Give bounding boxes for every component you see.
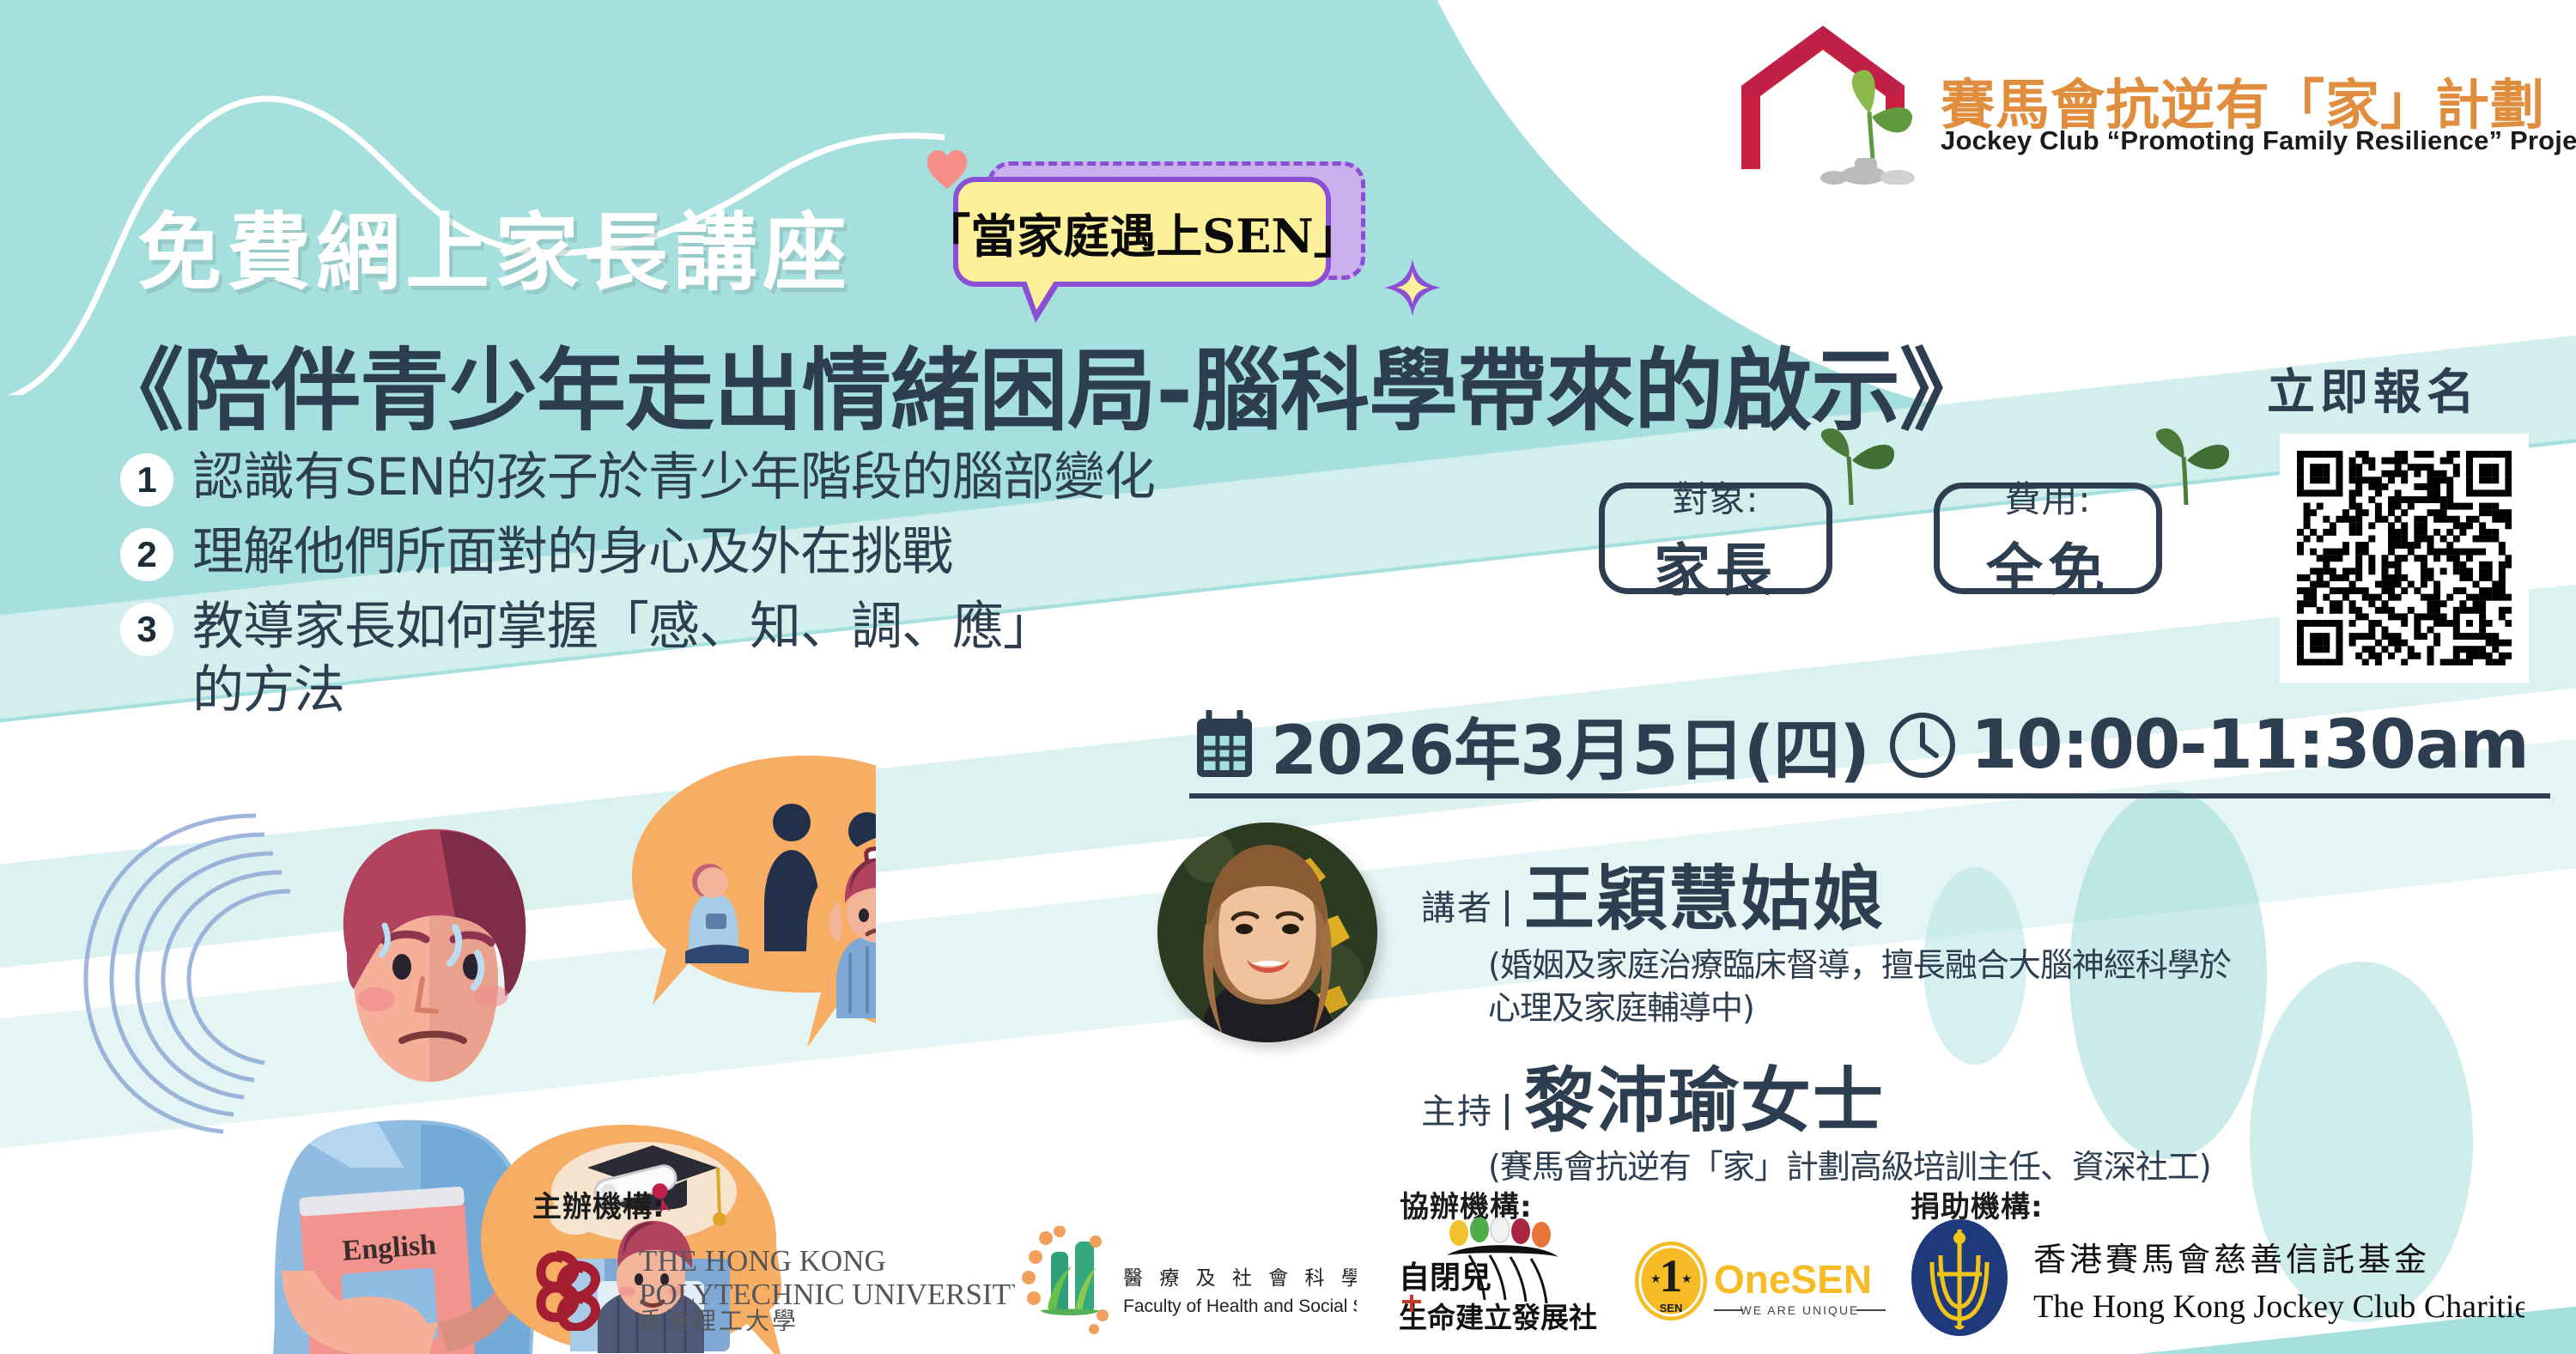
divider (1189, 793, 2550, 798)
avatar (1157, 823, 1377, 1042)
audience-box: 對象: 家長 (1599, 483, 1832, 594)
fhss-en: Faculty of Health and Social Sciences (1123, 1296, 1357, 1316)
audience-value: 家長 (1654, 525, 1777, 607)
onesen-tagline: WE ARE UNIQUE (1741, 1303, 1860, 1317)
onesen-badge-number: 1 (1660, 1250, 1683, 1302)
logo-onesen: 1 SEN ★ ★ OneSEN WE ARE UNIQUE (1631, 1238, 1889, 1324)
list-item: 2 理解他們所面對的身心及外在挑戰 (120, 521, 1460, 584)
headline: 免費網上家長講座 (137, 185, 852, 307)
logo-hkjc: 香港賽馬會慈善信託基金 The Hong Kong Jockey Club Ch… (1906, 1217, 2524, 1338)
speaker-block: 講者 王穎慧姑娘 (婚姻及家庭治療臨床督導，擅長融合大腦神經科學於 心理及家庭輔… (1421, 841, 2231, 1029)
audience-label: 對象: (1672, 471, 1759, 523)
poster-root: 賽馬會抗逆有「家」計劃 Jockey Club “Promoting Famil… (0, 0, 2576, 1354)
datetime-row: 2026年3月5日(四) 10:00-11:30am (1194, 697, 2529, 793)
speaker-name: 王穎慧姑娘 (1524, 841, 1885, 944)
event-time: 10:00-11:30am (1971, 707, 2529, 784)
page-title: 《陪伴青少年走出情緒困局-腦科學帶來的啟示》 (94, 318, 1988, 447)
logo-fhss: 醫 療 及 社 會 科 學 院 Faculty of Health and So… (1022, 1226, 1357, 1338)
bullet-number: 3 (120, 603, 173, 656)
fhss-cn: 醫 療 及 社 會 科 學 院 (1123, 1267, 1357, 1290)
calendar-icon (1194, 710, 1255, 780)
polyu-line3: 香港理工大學 (639, 1307, 799, 1331)
svg-text:★: ★ (1681, 1272, 1692, 1285)
host-block: 主持 黎沛瑜女士 (賽馬會抗逆有「家」計劃高級培訓主任、資深社工) (1421, 1043, 2211, 1188)
event-date: 2026年3月5日(四) (1271, 697, 1869, 793)
list-item: 1 認識有SEN的孩子於青少年階段的腦部變化 (120, 446, 1460, 509)
topic-tag: 「當家庭遇上SEN」 (953, 161, 1382, 312)
svg-text:★: ★ (1650, 1272, 1662, 1285)
hkjc-en: The Hong Kong Jockey Club Charities Trus… (2033, 1289, 2524, 1325)
host-description: (賽馬會抗逆有「家」計劃高級培訓主任、資深社工) (1488, 1145, 2211, 1188)
organiser-label: 主辦機構: (532, 1183, 665, 1225)
project-logo-name-en: Jockey Club “Promoting Family Resilience… (1941, 125, 2576, 156)
fee-box: 費用: 全免 (1934, 483, 2162, 594)
sprout-icon (1820, 69, 1945, 185)
bullet-text: 理解他們所面對的身心及外在挑戰 (192, 521, 952, 584)
bullet-text: 認識有SEN的孩子於青少年階段的腦部變化 (192, 446, 1155, 509)
clock-icon (1888, 711, 1957, 780)
logo-polyu: THE HONG KONG POLYTECHNIC UNIVERSITY 香港理… (526, 1236, 1015, 1331)
bullet-number: 1 (120, 453, 173, 507)
sparkle-icon (1382, 258, 1443, 318)
bullet-list: 1 認識有SEN的孩子於青少年階段的腦部變化 2 理解他們所面對的身心及外在挑戰… (120, 446, 1460, 734)
bullet-text: 教導家長如何掌握「感、知、調、應」 的方法 (192, 596, 1054, 721)
hkjc-cn: 香港賽馬會慈善信託基金 (2033, 1241, 2430, 1278)
fee-value: 全免 (1986, 525, 2110, 607)
topic-tag-text: 「當家庭遇上SEN」 (924, 198, 1360, 266)
onesen-badge-sub: SEN (1660, 1302, 1683, 1315)
project-logo: 賽馬會抗逆有「家」計劃 Jockey Club “Promoting Famil… (1726, 15, 2550, 196)
speaker-role: 講者 (1421, 880, 1509, 930)
speaker-description: (婚姻及家庭治療臨床督導，擅長融合大腦神經科學於 心理及家庭輔導中) (1488, 944, 2231, 1029)
register-label: 立即報名 (2267, 354, 2480, 423)
onesen-wordmark: OneSEN (1714, 1257, 1872, 1302)
polyu-line1: THE HONG KONG (639, 1244, 886, 1278)
topic-tag-tail-inner (1025, 278, 1056, 310)
logo-zimi: 自閉兒 生命建立發展社 (1395, 1217, 1627, 1338)
fee-label: 費用: (2004, 471, 2091, 523)
zimi-line2: 生命建立發展社 (1399, 1301, 1597, 1334)
host-name: 黎沛瑜女士 (1524, 1043, 1885, 1145)
registration-qr-code[interactable] (2280, 434, 2529, 683)
host-role: 主持 (1421, 1084, 1509, 1133)
zimi-line1: 自閉兒 (1399, 1260, 1492, 1296)
book-label: English (341, 1229, 437, 1267)
bullet-number: 2 (120, 528, 173, 581)
topic-tag-box: 「當家庭遇上SEN」 (953, 177, 1331, 287)
